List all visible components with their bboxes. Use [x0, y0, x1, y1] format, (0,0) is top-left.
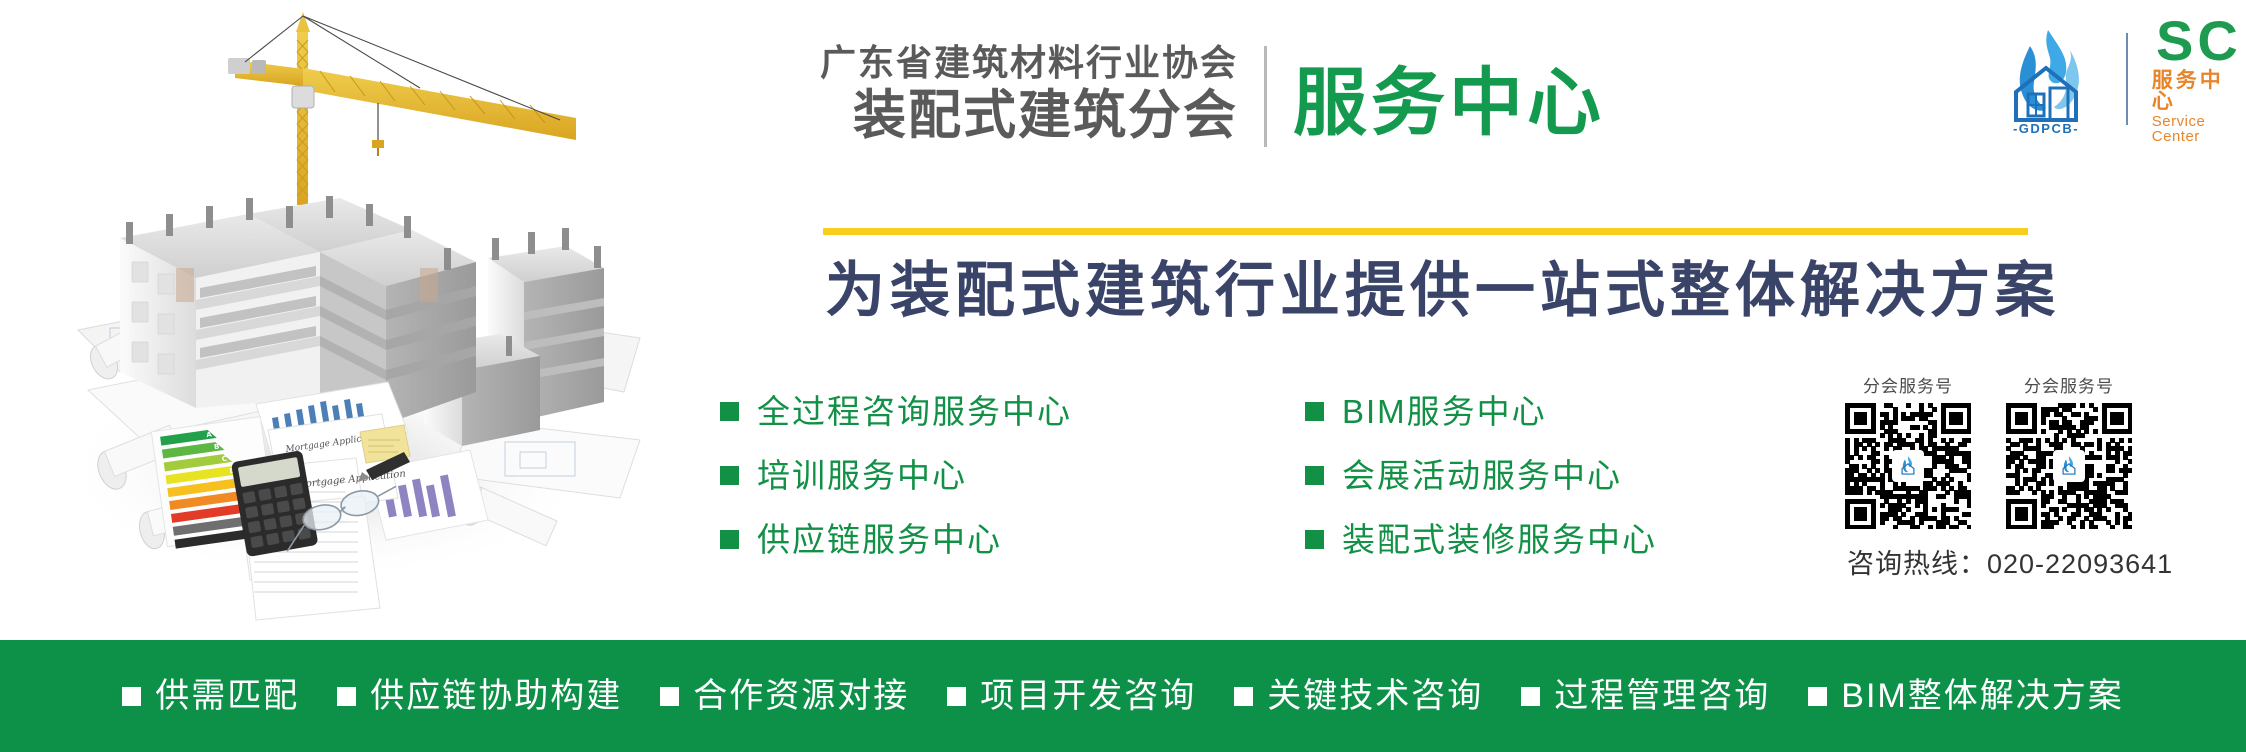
- gdpcb-flame-house-icon: -GDPCB-: [1990, 24, 2102, 134]
- sc-initials: SC: [2156, 14, 2242, 67]
- service-item[interactable]: 培训服务中心: [720, 459, 1180, 492]
- square-bullet-icon: [122, 687, 141, 706]
- footer-item[interactable]: 合作资源对接: [660, 679, 909, 713]
- association-name: 广东省建筑材料行业协会: [820, 42, 1238, 84]
- sc-english-label: Service Center: [2152, 114, 2246, 144]
- qr-center-logo-icon: [1892, 450, 1924, 482]
- footer-item[interactable]: 项目开发咨询: [947, 679, 1196, 713]
- service-item[interactable]: BIM服务中心: [1305, 395, 1657, 428]
- square-bullet-icon: [660, 687, 679, 706]
- footer-item-label: 合作资源对接: [693, 679, 909, 713]
- headline-slogan: 为装配式建筑行业提供一站式整体解决方案: [825, 258, 2060, 324]
- service-item-label: 装配式装修服务中心: [1342, 523, 1657, 556]
- qr-row: 分会服务号 分会服务号: [1845, 378, 2173, 529]
- square-bullet-icon: [1305, 466, 1324, 485]
- square-bullet-icon: [1808, 687, 1827, 706]
- square-bullet-icon: [720, 402, 739, 421]
- organization-names: 广东省建筑材料行业协会 装配式建筑分会: [820, 42, 1264, 147]
- square-bullet-icon: [1234, 687, 1253, 706]
- service-item-label: 培训服务中心: [757, 459, 967, 492]
- square-bullet-icon: [720, 530, 739, 549]
- service-item-label: BIM服务中心: [1342, 395, 1547, 428]
- gdpcb-wordmark: -GDPCB-: [1990, 121, 2102, 136]
- qr-code-image[interactable]: [1845, 403, 1971, 529]
- title-vertical-divider: [1264, 46, 1267, 147]
- square-bullet-icon: [337, 687, 356, 706]
- svg-text:B: B: [214, 443, 220, 452]
- service-item-label: 会展活动服务中心: [1342, 459, 1622, 492]
- gold-divider-rule: [823, 228, 2028, 235]
- qr-cell[interactable]: 分会服务号: [2006, 378, 2132, 529]
- service-center-logo: SC 服务中心 Service Center: [2152, 14, 2246, 144]
- service-center-heading: 服务中心: [1293, 66, 1605, 140]
- square-bullet-icon: [1521, 687, 1540, 706]
- service-item[interactable]: 全过程咨询服务中心: [720, 395, 1180, 428]
- qr-center-logo-icon: [2053, 450, 2085, 482]
- footer-item-label: BIM整体解决方案: [1841, 679, 2123, 713]
- qr-contact-block: 分会服务号 分会服务号: [1845, 378, 2173, 581]
- qr-caption: 分会服务号: [1863, 378, 1953, 395]
- organization-title-block: 广东省建筑材料行业协会 装配式建筑分会 服务中心: [820, 42, 1605, 147]
- qr-code-image[interactable]: [2006, 403, 2132, 529]
- qr-caption: 分会服务号: [2024, 378, 2114, 395]
- square-bullet-icon: [1305, 402, 1324, 421]
- service-item-label: 供应链服务中心: [757, 523, 1002, 556]
- footer-item-label: 供需匹配: [155, 679, 299, 713]
- footer-item-label: 过程管理咨询: [1554, 679, 1770, 713]
- footer-item[interactable]: 供需匹配: [122, 679, 299, 713]
- logo-lockup: -GDPCB- SC 服务中心 Service Center: [1990, 14, 2246, 144]
- service-item[interactable]: 会展活动服务中心: [1305, 459, 1657, 492]
- hotline-text: 咨询热线：020-22093641: [1845, 542, 2173, 581]
- square-bullet-icon: [1305, 530, 1324, 549]
- square-bullet-icon: [947, 687, 966, 706]
- service-item[interactable]: 装配式装修服务中心: [1305, 523, 1657, 556]
- service-column-right: BIM服务中心 会展活动服务中心 装配式装修服务中心: [1305, 395, 1657, 556]
- footer-item[interactable]: 关键技术咨询: [1234, 679, 1483, 713]
- construction-scene-illustration: Mortgage Application Mortgage Applicatio…: [0, 0, 660, 640]
- footer-item-label: 项目开发咨询: [980, 679, 1196, 713]
- service-item-label: 全过程咨询服务中心: [757, 395, 1072, 428]
- footer-item-label: 关键技术咨询: [1267, 679, 1483, 713]
- footer-item[interactable]: 供应链协助构建: [337, 679, 622, 713]
- square-bullet-icon: [720, 466, 739, 485]
- footer-item-list: 供需匹配 供应链协助构建 合作资源对接 项目开发咨询 关键技术咨询 过程管理咨询…: [122, 679, 2123, 713]
- qr-cell[interactable]: 分会服务号: [1845, 378, 1971, 529]
- hero-construction-image: Mortgage Application Mortgage Applicatio…: [0, 0, 660, 640]
- logo-separator: [2126, 33, 2128, 125]
- branch-name: 装配式建筑分会: [853, 86, 1238, 146]
- service-column-left: 全过程咨询服务中心 培训服务中心 供应链服务中心: [720, 395, 1180, 556]
- service-item[interactable]: 供应链服务中心: [720, 523, 1180, 556]
- footer-item-label: 供应链协助构建: [370, 679, 622, 713]
- footer-item[interactable]: BIM整体解决方案: [1808, 679, 2123, 713]
- footer-keywords-bar: 供需匹配 供应链协助构建 合作资源对接 项目开发咨询 关键技术咨询 过程管理咨询…: [0, 640, 2246, 752]
- service-center-lists: 全过程咨询服务中心 培训服务中心 供应链服务中心 BIM服务中心 会展活动服务中…: [720, 395, 1657, 556]
- banner-content: 广东省建筑材料行业协会 装配式建筑分会 服务中心 为装配式建筑行业提供一站式整体…: [660, 0, 2246, 640]
- footer-item[interactable]: 过程管理咨询: [1521, 679, 1770, 713]
- sc-chinese-label: 服务中心: [2152, 70, 2246, 112]
